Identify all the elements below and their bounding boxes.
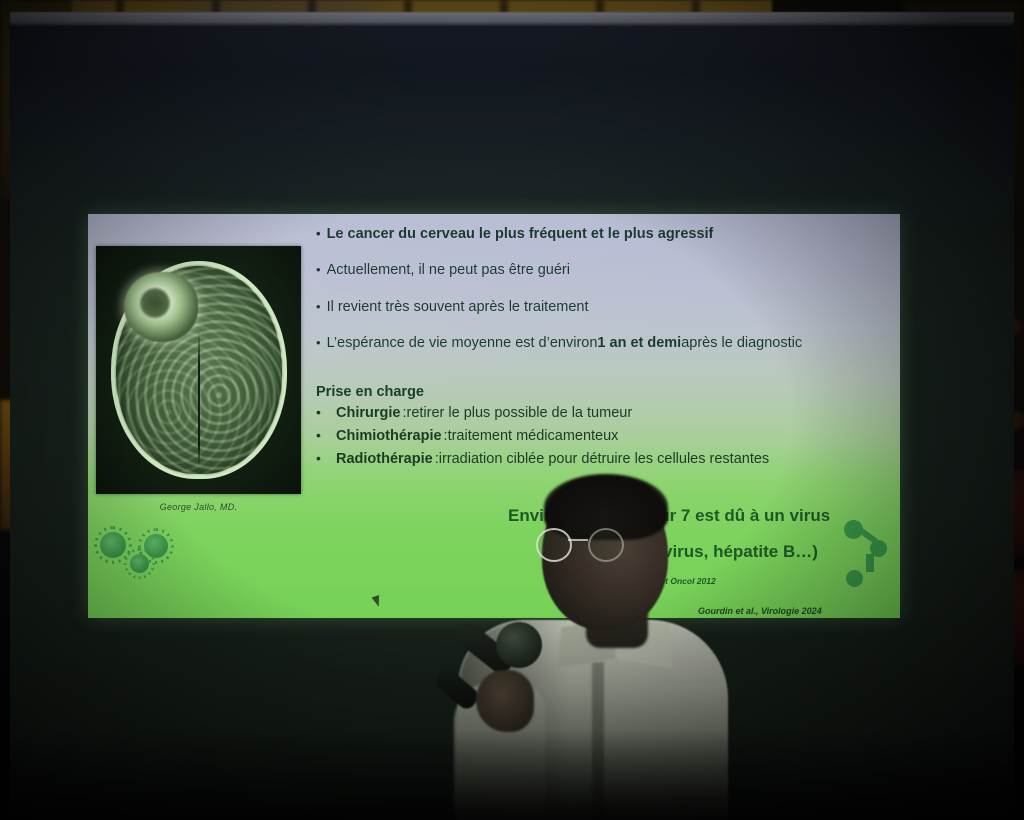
bullet-dot-icon: •	[316, 226, 321, 242]
eyeglass-lens-right	[588, 528, 624, 562]
treatment-term: Chirurgie	[336, 405, 400, 421]
bullet-dot-icon: •	[316, 404, 336, 420]
treatment-item: • Radiothérapie : irradiation ciblée pou…	[316, 450, 769, 467]
bullet-dot-icon: •	[316, 427, 336, 443]
bullet-dot-icon: •	[316, 335, 321, 351]
treatment-detail: traitement médicamenteux	[448, 428, 619, 444]
molecule-node	[846, 570, 863, 587]
bullet-item: • Actuellement, il ne peut pas être guér…	[316, 262, 896, 279]
molecule-graphic	[836, 514, 896, 600]
bullet-item-lifespan: • L’espérance de vie moyenne est d’envir…	[316, 335, 896, 352]
brain-mri-image	[96, 246, 301, 494]
eyeglasses-icon	[536, 528, 632, 558]
eyeglass-bridge	[568, 539, 588, 541]
bullet-text: Actuellement, il ne peut pas être guéri	[327, 262, 570, 279]
foreground-floor-shadow	[0, 730, 1024, 820]
treatment-detail: irradiation ciblée pour détruire les cel…	[439, 451, 769, 467]
presenter-hand	[476, 670, 534, 732]
treatment-item: • Chimiothérapie : traitement médicament…	[316, 427, 769, 444]
mri-midline-fissure	[198, 330, 200, 466]
virus-particle-icon	[100, 532, 126, 558]
mri-tumor-necrotic-core	[140, 288, 170, 318]
bullet-text-prefix: L’espérance de vie moyenne est d’environ	[327, 335, 598, 352]
bullet-item: • Le cancer du cerveau le plus fréquent …	[316, 226, 896, 243]
bullet-text: Le cancer du cerveau le plus fréquent et…	[327, 226, 714, 243]
treatment-term: Chimiothérapie	[336, 428, 442, 444]
treatment-item: • Chirurgie : retirer le plus possible d…	[316, 404, 769, 421]
virus-particle-icon	[144, 534, 168, 558]
bullet-text-emphasis: 1 an et demi	[597, 335, 681, 352]
bullet-item: • Il revient très souvent après le trait…	[316, 299, 896, 316]
mouse-pointer-icon	[371, 595, 382, 608]
molecule-bond	[866, 554, 874, 572]
bullet-text-suffix: après le diagnostic	[681, 335, 802, 352]
treatment-term: Radiothérapie	[336, 451, 433, 467]
section-heading-management: Prise en charge	[316, 384, 424, 400]
slide-bullet-list: • Le cancer du cerveau le plus fréquent …	[316, 226, 896, 372]
eyeglass-lens-left	[536, 528, 572, 562]
bullet-dot-icon: •	[316, 262, 321, 278]
treatment-detail: retirer le plus possible de la tumeur	[406, 405, 632, 421]
bullet-text: Il revient très souvent après le traitem…	[327, 299, 589, 316]
bullet-dot-icon: •	[316, 450, 336, 466]
treatment-list: • Chirurgie : retirer le plus possible d…	[316, 404, 769, 473]
bullet-dot-icon: •	[316, 299, 321, 315]
mri-image-credit: George Jallo, MD.	[96, 502, 301, 512]
microphone-head	[496, 622, 542, 668]
screen-top-highlight	[10, 12, 1014, 26]
screenshot-root: George Jallo, MD. • Le cancer du cerveau…	[0, 0, 1024, 820]
